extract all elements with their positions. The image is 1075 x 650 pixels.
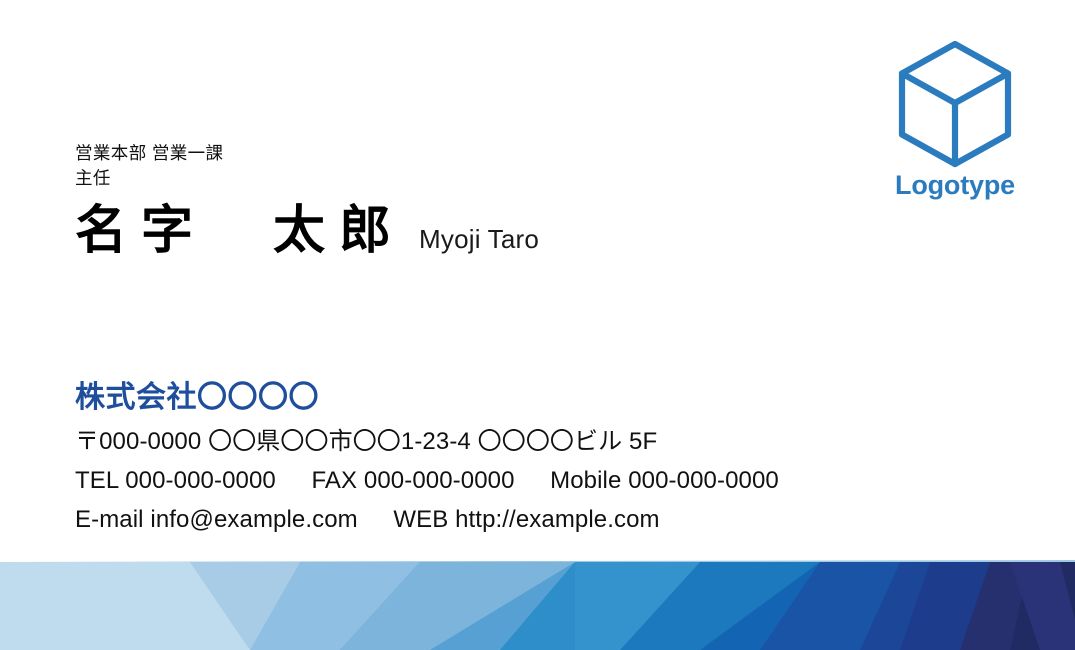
fax-label: FAX bbox=[311, 467, 357, 494]
person-name-ja: 名字 太郎 bbox=[75, 204, 405, 259]
mobile-label: Mobile bbox=[550, 467, 621, 494]
isometric-cube-logo-icon bbox=[896, 40, 1014, 168]
web-label: WEB bbox=[393, 506, 448, 533]
email-web-line: E-mail info@example.com WEB http://examp… bbox=[75, 501, 779, 540]
bottom-decorative-band bbox=[0, 560, 1075, 650]
job-title-line: 主任 bbox=[75, 166, 539, 191]
tel-value: 000-000-0000 bbox=[125, 467, 276, 494]
company-name: 株式会社〇〇〇〇 bbox=[75, 381, 779, 414]
web-value: http://example.com bbox=[455, 506, 660, 533]
person-name-row: 名字 太郎 Myoji Taro bbox=[75, 204, 539, 259]
mobile-value: 000-000-0000 bbox=[628, 467, 779, 494]
fax-value: 000-000-0000 bbox=[364, 467, 515, 494]
contact-block: 株式会社〇〇〇〇 〒000-0000 〇〇県〇〇市〇〇1-23-4 〇〇〇〇ビル… bbox=[75, 381, 779, 540]
email-label: E-mail bbox=[75, 506, 144, 533]
tel-label: TEL bbox=[75, 467, 118, 494]
address-line: 〒000-0000 〇〇県〇〇市〇〇1-23-4 〇〇〇〇ビル 5F bbox=[75, 423, 779, 462]
logo-block: Logotype bbox=[880, 40, 1030, 210]
logotype-text: Logotype bbox=[880, 172, 1030, 199]
person-name-romaji: Myoji Taro bbox=[419, 226, 539, 258]
department-line: 営業本部 営業一課 bbox=[75, 141, 539, 166]
business-card: Logotype 営業本部 営業一課 主任 名字 太郎 Myoji Taro 株… bbox=[0, 0, 1075, 650]
email-value: info@example.com bbox=[150, 506, 357, 533]
phone-line: TEL 000-000-0000 FAX 000-000-0000 Mobile… bbox=[75, 462, 779, 501]
name-block: 営業本部 営業一課 主任 名字 太郎 Myoji Taro bbox=[75, 141, 539, 258]
